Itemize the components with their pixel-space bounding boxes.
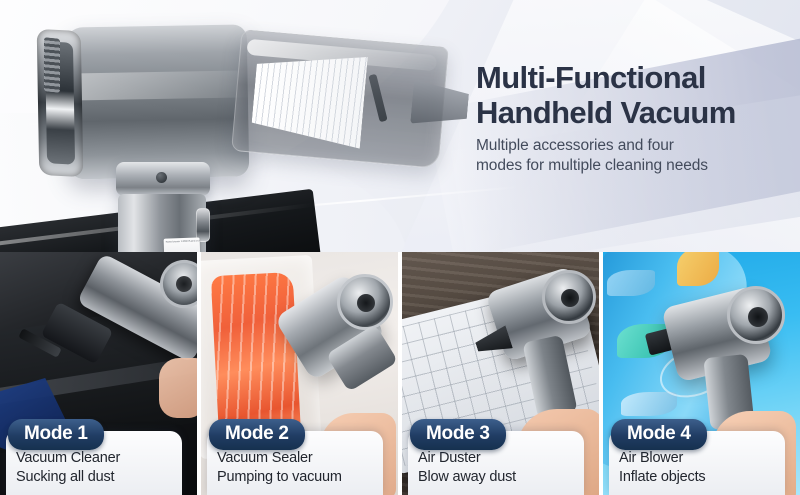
- page-title: Multi-Functional Handheld Vacuum: [476, 60, 792, 130]
- mode-title-1: Vacuum Cleaner: [16, 449, 172, 468]
- mode-panel-row: Mode 1 Vacuum Cleaner Sucking all dust M…: [0, 252, 800, 495]
- mode-panel-2: Mode 2 Vacuum Sealer Pumping to vacuum: [201, 252, 398, 495]
- mode-badge-4: Mode 4: [611, 419, 707, 450]
- mode-caption-2: Mode 2 Vacuum Sealer Pumping to vacuum: [207, 431, 383, 495]
- product-poster: Rated power 120W Rated voltage 7.4V Li-i…: [0, 0, 800, 495]
- mode-title-2: Vacuum Sealer: [217, 449, 373, 468]
- mode-caption-3: Mode 3 Air Duster Blow away dust: [408, 431, 584, 495]
- vacuum-spec-label-text: Rated power 120W Rated voltage 7.4V Li-i…: [164, 237, 200, 244]
- mode-panel-3: Mode 3 Air Duster Blow away dust: [402, 252, 599, 495]
- vacuum-motor-body: [65, 24, 250, 179]
- page-subtitle: Multiple accessories and four modes for …: [476, 136, 786, 176]
- mode-caption-1: Mode 1 Vacuum Cleaner Sucking all dust: [6, 431, 182, 495]
- mode-panel-1: Mode 1 Vacuum Cleaner Sucking all dust: [0, 252, 197, 495]
- mode-panel-4: Mode 4 Air Blower Inflate objects: [603, 252, 800, 495]
- hero-section: Rated power 120W Rated voltage 7.4V Li-i…: [0, 0, 800, 256]
- subhead-line-2: modes for multiple cleaning needs: [476, 156, 786, 176]
- headline-line-1: Multi-Functional: [476, 60, 792, 95]
- mode-title-4: Air Blower: [619, 449, 775, 468]
- hero-product-vacuum: Rated power 120W Rated voltage 7.4V Li-i…: [18, 12, 458, 252]
- vacuum-vent-grille: [44, 37, 60, 93]
- mode-subtitle-2: Pumping to vacuum: [217, 468, 373, 487]
- mode-title-3: Air Duster: [418, 449, 574, 468]
- mode-badge-2: Mode 2: [209, 419, 305, 450]
- hand-mode1: [159, 358, 197, 418]
- mode-subtitle-3: Blow away dust: [418, 468, 574, 487]
- mode-badge-1: Mode 1: [8, 419, 104, 450]
- vacuum-cap-mode2: [337, 274, 393, 330]
- mode-subtitle-4: Inflate objects: [619, 468, 775, 487]
- fish-graphic-4: [607, 270, 655, 296]
- vacuum-screw-dot: [156, 172, 167, 183]
- headline-line-2: Handheld Vacuum: [476, 95, 792, 130]
- vacuum-cap-mode4: [727, 286, 785, 344]
- subhead-line-1: Multiple accessories and four: [476, 136, 786, 156]
- mode-caption-4: Mode 4 Air Blower Inflate objects: [609, 431, 785, 495]
- vacuum-cap-mode3: [542, 270, 596, 324]
- mode-subtitle-1: Sucking all dust: [16, 468, 172, 487]
- fish-graphic-2: [621, 392, 677, 416]
- mode-badge-3: Mode 3: [410, 419, 506, 450]
